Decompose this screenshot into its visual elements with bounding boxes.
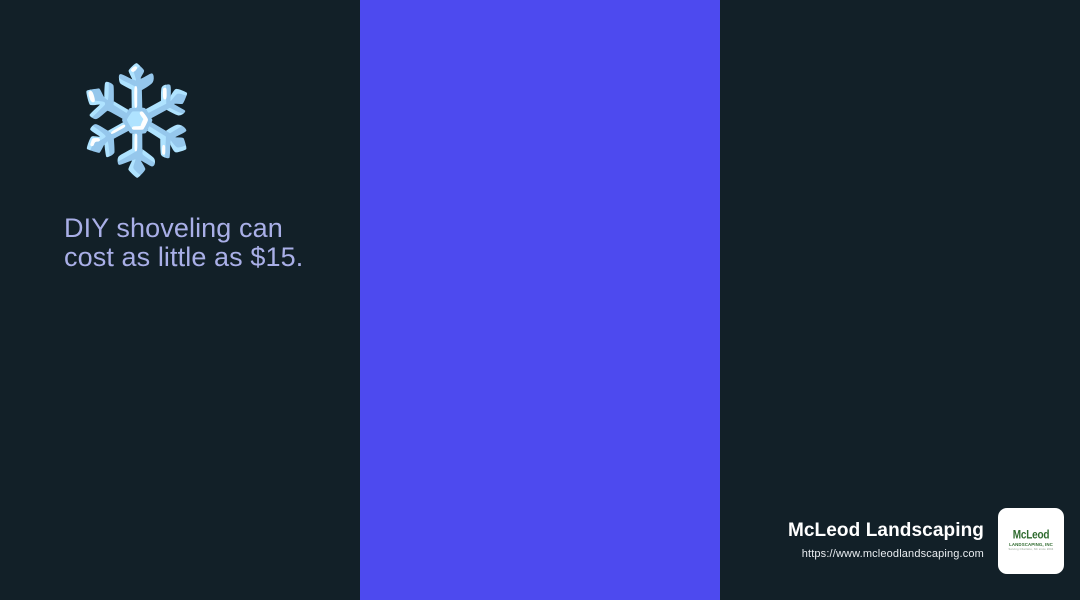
brand-text-block: McLeod Landscaping https://www.mcleodlan… [788,519,984,562]
stat-text-diy-shoveling: DIY shoveling can cost as little as $15. [64,214,314,272]
brand-logo-badge: McLeod LANDSCAPING, INC Serving Charlott… [998,508,1064,574]
infographic-canvas: ❄️ DIY shoveling can cost as little as $… [0,0,1080,600]
brand-name: McLeod Landscaping [788,519,984,543]
panel-diy-shoveling: ❄️ DIY shoveling can cost as little as $… [0,0,360,600]
logo-subtitle: LANDSCAPING, INC [1009,543,1053,547]
snowflake-emoji: ❄️ [72,68,202,172]
logo-wordmark: McLeod [1013,530,1050,542]
brand-url[interactable]: https://www.mcleodlandscaping.com [802,546,984,563]
panel-roof-snow-removal: 🚜 Roof snow removal can cost up to $1,30… [360,0,720,600]
logo-tagline: Serving Charlotte, NC since 2004 [1009,549,1054,552]
brand-footer: McLeod Landscaping https://www.mcleodlan… [768,505,1064,577]
